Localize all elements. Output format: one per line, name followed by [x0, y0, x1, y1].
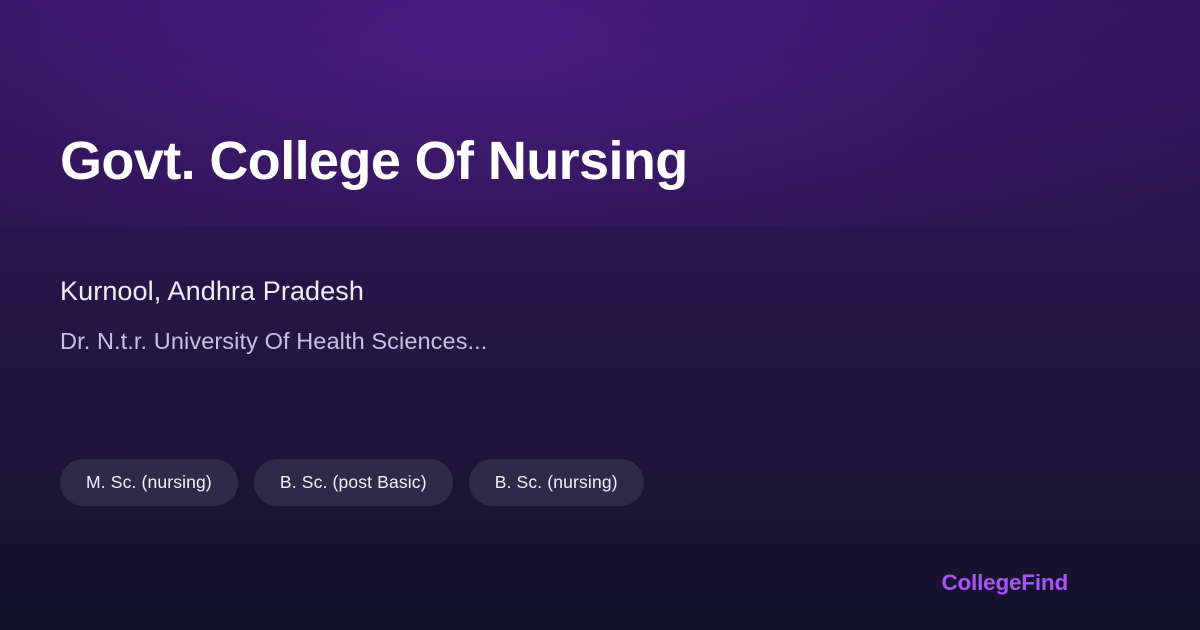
college-affiliation: Dr. N.t.r. University Of Health Sciences… — [60, 325, 487, 358]
course-tag-list: M. Sc. (nursing) B. Sc. (post Basic) B. … — [60, 459, 644, 506]
course-tag[interactable]: B. Sc. (post Basic) — [254, 459, 453, 506]
card-content: Govt. College Of Nursing Kurnool, Andhra… — [60, 0, 1140, 630]
college-location: Kurnool, Andhra Pradesh — [60, 273, 364, 309]
course-tag[interactable]: M. Sc. (nursing) — [60, 459, 238, 506]
college-share-card: Govt. College Of Nursing Kurnool, Andhra… — [0, 0, 1200, 630]
course-tag[interactable]: B. Sc. (nursing) — [469, 459, 644, 506]
college-name-title: Govt. College Of Nursing — [60, 127, 688, 195]
brand-logo-text[interactable]: CollegeFind — [941, 568, 1068, 598]
